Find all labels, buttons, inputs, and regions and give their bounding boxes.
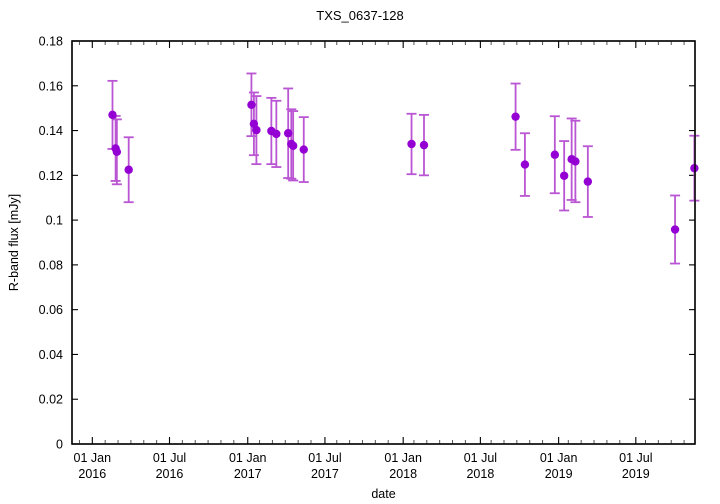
x-tick-label-year: 2016 bbox=[78, 467, 106, 481]
data-point bbox=[247, 101, 255, 109]
data-point bbox=[289, 142, 297, 150]
x-tick-label-year: 2017 bbox=[234, 467, 262, 481]
chart-figure: TXS_0637-128 00.020.040.060.080.10.120.1… bbox=[0, 0, 720, 504]
data-point bbox=[571, 157, 579, 165]
data-point bbox=[124, 166, 132, 174]
data-point bbox=[252, 126, 260, 134]
y-tick-label: 0.04 bbox=[39, 348, 63, 362]
y-tick-label: 0.02 bbox=[39, 393, 63, 407]
x-tick-label-month: 01 Jan bbox=[74, 451, 112, 465]
y-tick-label: 0.08 bbox=[39, 258, 63, 272]
data-point bbox=[511, 112, 519, 120]
y-tick-label: 0.16 bbox=[39, 79, 63, 93]
data-point bbox=[300, 145, 308, 153]
plot-frame bbox=[72, 41, 695, 444]
data-point bbox=[671, 225, 679, 233]
y-tick-label: 0.06 bbox=[39, 303, 63, 317]
data-point bbox=[113, 148, 121, 156]
x-tick-label-month: 01 Jul bbox=[464, 451, 497, 465]
data-point bbox=[521, 160, 529, 168]
x-tick-label-month: 01 Jan bbox=[540, 451, 578, 465]
x-tick-label-year: 2018 bbox=[389, 467, 417, 481]
x-tick-label-year: 2019 bbox=[622, 467, 650, 481]
y-tick-label: 0.12 bbox=[39, 169, 63, 183]
x-tick-label-month: 01 Jul bbox=[153, 451, 186, 465]
x-tick-label-year: 2016 bbox=[156, 467, 184, 481]
y-axis-label: R-band flux [mJy] bbox=[7, 194, 21, 291]
y-tick-label: 0 bbox=[56, 438, 63, 452]
plot-canvas: 00.020.040.060.080.10.120.140.160.1801 J… bbox=[0, 0, 720, 504]
y-tick-label: 0.18 bbox=[39, 35, 63, 49]
data-point bbox=[108, 111, 116, 119]
data-point bbox=[407, 140, 415, 148]
x-tick-label-month: 01 Jan bbox=[229, 451, 267, 465]
x-tick-label-month: 01 Jan bbox=[384, 451, 422, 465]
data-point bbox=[420, 141, 428, 149]
x-axis-label: date bbox=[371, 487, 395, 501]
errorbar-group bbox=[107, 73, 699, 263]
y-tick-label: 0.14 bbox=[39, 124, 63, 138]
data-point bbox=[584, 177, 592, 185]
data-point bbox=[551, 151, 559, 159]
x-tick-label-month: 01 Jul bbox=[308, 451, 341, 465]
data-point bbox=[272, 130, 280, 138]
y-tick-label: 0.1 bbox=[46, 214, 63, 228]
x-tick-label-year: 2017 bbox=[311, 467, 339, 481]
plot-frame-overlay bbox=[72, 41, 695, 444]
x-tick-label-month: 01 Jul bbox=[619, 451, 652, 465]
x-tick-label-year: 2019 bbox=[545, 467, 573, 481]
datapoint-group bbox=[108, 101, 698, 234]
data-point bbox=[560, 172, 568, 180]
data-point bbox=[284, 129, 292, 137]
x-tick-label-year: 2018 bbox=[466, 467, 494, 481]
